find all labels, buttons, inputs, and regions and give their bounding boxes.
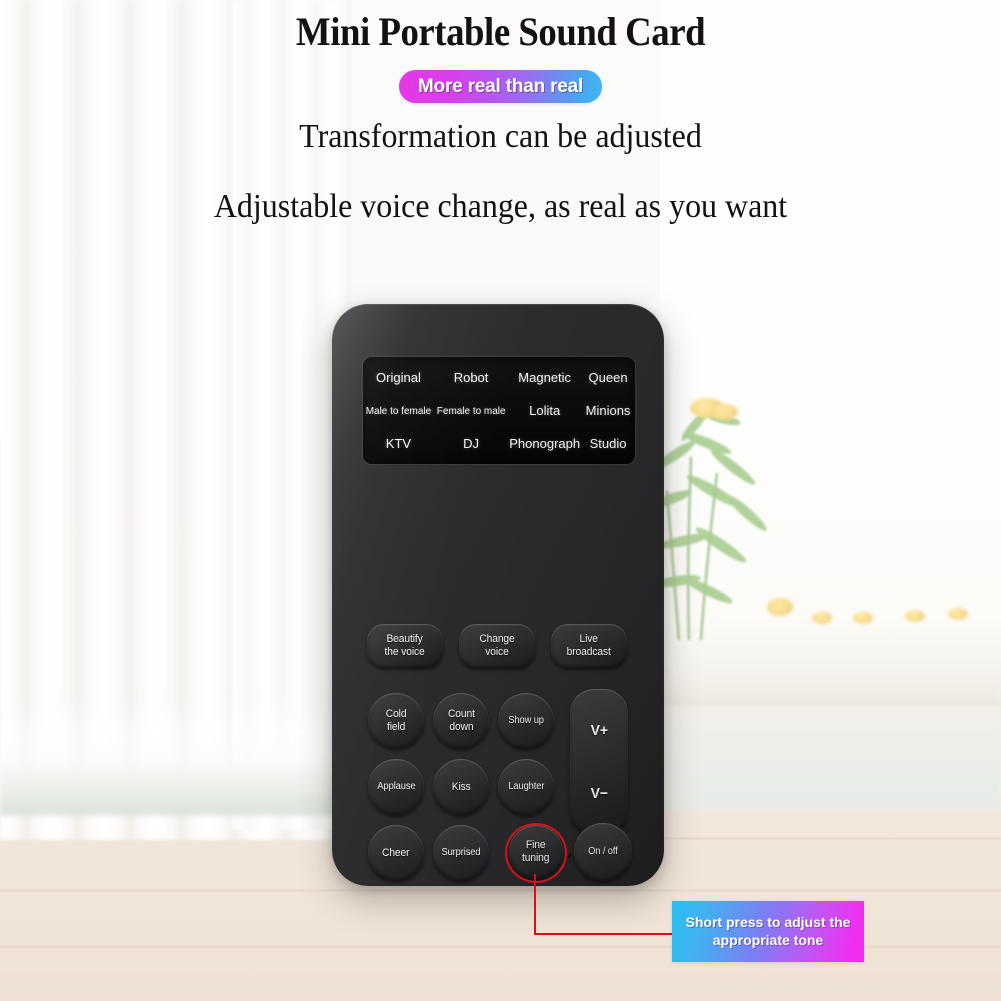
voice-mode-queen: Queen: [588, 370, 629, 385]
voice-mode-original: Original: [375, 370, 422, 385]
annotation-leader-line-horizontal: [534, 933, 674, 935]
button-kiss-label: Kiss: [452, 781, 471, 794]
annotation-callout: Short press to adjust the appropriate to…: [672, 901, 864, 962]
annotation-leader-line-vertical: [534, 874, 536, 935]
button-cheer[interactable]: Cheer: [368, 825, 424, 881]
flower-blossom: [905, 610, 925, 622]
button-surprised[interactable]: Surprised: [433, 825, 489, 881]
button-power-on-off-label: On / off: [588, 846, 618, 857]
button-applause-label: Applause: [377, 781, 415, 792]
tagline-badge-label: More real than real: [418, 76, 583, 98]
annotation-highlight-circle: [505, 823, 567, 883]
button-count-down-label: Count down: [448, 708, 475, 733]
annotation-callout-text: Short press to adjust the appropriate to…: [678, 914, 859, 949]
volume-rocker[interactable]: V+ V−: [570, 689, 628, 835]
button-surprised-label: Surprised: [442, 847, 481, 858]
button-change-voice-label: Change voice: [479, 633, 514, 658]
button-cheer-label: Cheer: [382, 847, 409, 860]
button-kiss[interactable]: Kiss: [433, 759, 489, 815]
button-cold-field[interactable]: Cold field: [368, 693, 424, 749]
tagline-badge: More real than real: [399, 70, 602, 103]
button-beautify-the-voice-label: Beautify the voice: [385, 633, 425, 658]
button-show-up-label: Show up: [508, 715, 544, 726]
button-count-down[interactable]: Count down: [433, 693, 489, 749]
button-volume-down-label: V−: [590, 785, 607, 802]
button-laughter[interactable]: Laughter: [498, 759, 554, 815]
voice-mode-phonograph: Phonograph: [508, 436, 581, 451]
page-title: Mini Portable Sound Card: [40, 8, 961, 55]
voice-mode-dj: DJ: [462, 436, 480, 451]
flower-blossom: [767, 598, 793, 616]
voice-mode-robot: Robot: [453, 370, 490, 385]
voice-mode-ktv: KTV: [385, 436, 412, 451]
button-change-voice[interactable]: Change voice: [459, 624, 535, 668]
button-live-broadcast[interactable]: Live broadcast: [551, 624, 627, 668]
voice-mode-lolita: Lolita: [528, 403, 561, 418]
voice-mode-studio: Studio: [589, 436, 628, 451]
button-volume-up-label: V+: [590, 722, 607, 739]
subtitle-line-2: Adjustable voice change, as real as you …: [30, 188, 971, 226]
flower-blossom: [948, 608, 968, 620]
button-power-on-off[interactable]: On / off: [574, 823, 632, 881]
device-screen: Original Robot Magnetic Queen Male to fe…: [363, 357, 635, 464]
button-applause[interactable]: Applause: [368, 759, 424, 815]
button-live-broadcast-label: Live broadcast: [567, 633, 611, 658]
button-beautify-the-voice[interactable]: Beautify the voice: [367, 624, 443, 668]
button-show-up[interactable]: Show up: [498, 693, 554, 749]
voice-mode-magnetic: Magnetic: [517, 370, 572, 385]
sound-card-device: Original Robot Magnetic Queen Male to fe…: [332, 304, 664, 886]
product-marketing-image: Mini Portable Sound Card More real than …: [0, 0, 1001, 1001]
flower-blossom: [812, 612, 832, 624]
voice-mode-minions: Minions: [585, 403, 632, 418]
voice-mode-grid: Original Robot Magnetic Queen Male to fe…: [363, 361, 635, 460]
curtain-floor-shadow: [0, 760, 350, 815]
button-cold-field-label: Cold field: [386, 708, 407, 733]
flower-blossom: [712, 404, 738, 420]
flower-blossom: [853, 612, 873, 624]
voice-mode-female-to-male: Female to male: [436, 405, 507, 417]
voice-mode-male-to-female: Male to female: [365, 405, 432, 417]
subtitle-line-1: Transformation can be adjusted: [30, 118, 971, 156]
button-laughter-label: Laughter: [508, 781, 544, 792]
